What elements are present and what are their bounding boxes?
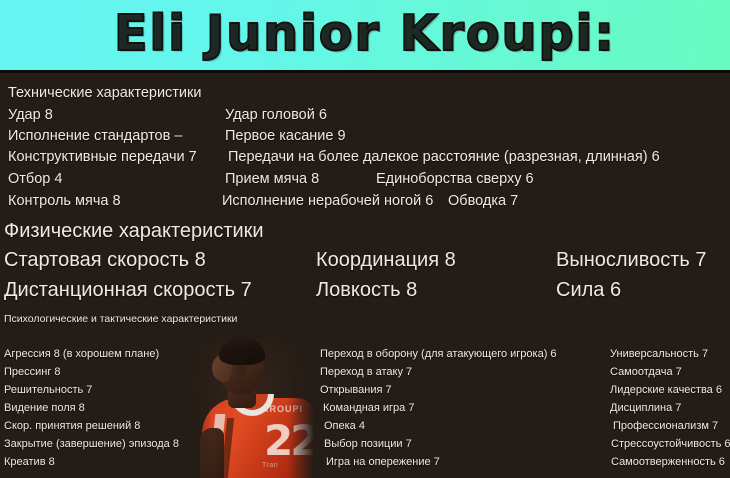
psychological-item: Переход в оборону (для атакующего игрока… xyxy=(320,348,557,360)
player-hair xyxy=(219,337,265,365)
photo-fade-top xyxy=(178,332,314,348)
psychological-item: Дисциплина 7 xyxy=(610,402,681,414)
psychological-item: Открывания 7 xyxy=(320,384,392,396)
technical-item: Передачи на более далекое расстояние (ра… xyxy=(228,149,660,165)
jersey-sponsor: Tran xyxy=(262,462,278,469)
jersey-number: 22 xyxy=(264,420,314,462)
technical-item: Прием мяча 8 xyxy=(225,171,319,187)
photo-fade-right xyxy=(288,332,314,478)
psychological-item: Скор. принятия решений 8 xyxy=(4,420,140,432)
player-attributes-infographic: Eli Junior Kroupi: KROUPI 22 Tran Технич… xyxy=(0,0,730,478)
jersey-collar-inner xyxy=(236,394,268,410)
jersey-stripe-white xyxy=(209,414,226,478)
psychological-item: Выбор позиции 7 xyxy=(324,438,412,450)
psychological-item: Решительность 7 xyxy=(4,384,92,396)
jersey-name: KROUPI xyxy=(262,404,303,414)
physical-item: Ловкость 8 xyxy=(316,279,417,302)
player-arm xyxy=(200,428,224,478)
header-divider xyxy=(0,70,730,73)
physical-item: Сила 6 xyxy=(556,279,621,302)
player-jersey xyxy=(202,398,314,478)
technical-item: Обводка 7 xyxy=(448,193,518,209)
psychological-item: Переход в атаку 7 xyxy=(320,366,412,378)
physical-item: Выносливость 7 xyxy=(556,249,707,272)
technical-item: Конструктивные передачи 7 xyxy=(8,149,197,165)
physical-item: Координация 8 xyxy=(316,249,456,272)
technical-item: Удар головой 6 xyxy=(225,107,327,123)
player-ear xyxy=(236,364,247,377)
jersey-collar xyxy=(230,394,274,416)
psychological-item: Самоотдача 7 xyxy=(610,366,682,378)
psychological-item: Агрессия 8 (в хорошем плане) xyxy=(4,348,159,360)
physical-item: Дистанционная скорость 7 xyxy=(4,279,252,302)
player-photo: KROUPI 22 Tran xyxy=(178,332,314,478)
player-head xyxy=(218,341,264,395)
technical-item: Исполнение стандартов – xyxy=(8,128,182,144)
psychological-item: Универсальность 7 xyxy=(610,348,708,360)
psychological-item: Прессинг 8 xyxy=(4,366,61,378)
technical-item: Первое касание 9 xyxy=(225,128,346,144)
player-neck xyxy=(228,386,256,408)
psychological-item: Профессионализм 7 xyxy=(613,420,718,432)
psychological-item: Креатив 8 xyxy=(4,456,55,468)
photo-background xyxy=(178,332,314,478)
header-banner: Eli Junior Kroupi: xyxy=(0,0,730,70)
page-title: Eli Junior Kroupi: xyxy=(0,1,730,67)
jersey-stripe-dark xyxy=(221,418,234,478)
psychological-item: Игра на опережение 7 xyxy=(326,456,440,468)
physical-item: Стартовая скорость 8 xyxy=(4,249,206,272)
technical-heading: Технические характеристики xyxy=(8,85,201,101)
psychological-item: Закрытие (завершение) эпизода 8 xyxy=(4,438,179,450)
psychological-item: Лидерские качества 6 xyxy=(610,384,722,396)
photo-fade-left xyxy=(178,332,212,478)
psychological-item: Стрессоустойчивость 6 xyxy=(611,438,730,450)
technical-item: Контроль мяча 8 xyxy=(8,193,121,209)
technical-item: Отбор 4 xyxy=(8,171,62,187)
technical-item: Единоборства сверху 6 xyxy=(376,171,534,187)
psychological-item: Опека 4 xyxy=(324,420,365,432)
technical-item: Удар 8 xyxy=(8,107,53,123)
psychological-item: Видение поля 8 xyxy=(4,402,85,414)
technical-item: Исполнение нерабочей ногой 6 xyxy=(222,193,433,209)
psychological-item: Командная игра 7 xyxy=(323,402,414,414)
psychological-heading: Психологические и тактические характерис… xyxy=(4,313,237,325)
player-face xyxy=(212,354,232,382)
psychological-item: Самоотверженность 6 xyxy=(611,456,725,468)
physical-heading: Физические характеристики xyxy=(4,220,264,243)
